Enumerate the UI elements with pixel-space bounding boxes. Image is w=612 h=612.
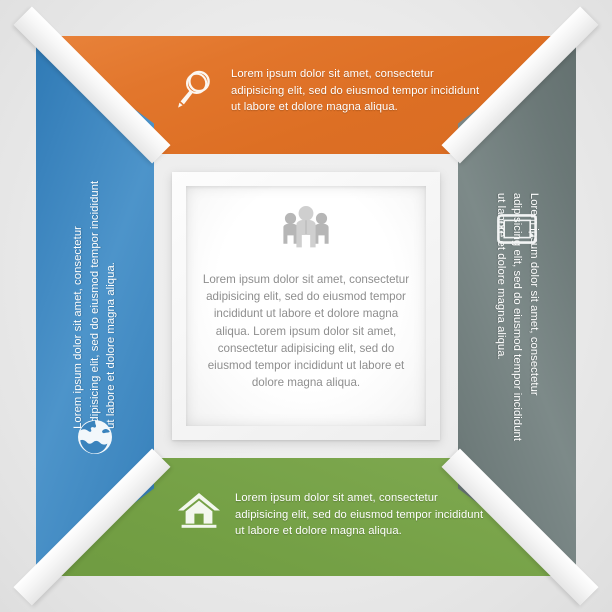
center-card[interactable]: Lorem ipsum dolor sit amet, consectetur … bbox=[172, 172, 440, 440]
panel-bottom-content: Lorem ipsum dolor sit amet, consectetur … bbox=[177, 490, 487, 540]
panel-right-content: Lorem ipsum dolor sit amet, consectetur … bbox=[458, 36, 576, 576]
panel-left-text: Lorem ipsum dolor sit amet, consectetur … bbox=[70, 177, 120, 429]
panel-left-rotated-text: Lorem ipsum dolor sit amet, consectetur … bbox=[70, 177, 120, 429]
infographic-frame: Lorem ipsum dolor sit amet, consectetur … bbox=[0, 0, 612, 612]
tablet-icon bbox=[497, 214, 537, 249]
panel-right[interactable]: Lorem ipsum dolor sit amet, consectetur … bbox=[458, 36, 576, 576]
globe-icon bbox=[76, 418, 114, 461]
people-group-icon bbox=[278, 202, 334, 259]
center-card-inner: Lorem ipsum dolor sit amet, consectetur … bbox=[186, 186, 426, 426]
panel-bottom-text: Lorem ipsum dolor sit amet, consectetur … bbox=[235, 490, 487, 540]
panel-top-content: Lorem ipsum dolor sit amet, consectetur … bbox=[175, 66, 483, 116]
magnifier-icon bbox=[175, 68, 215, 115]
center-card-text: Lorem ipsum dolor sit amet, consectetur … bbox=[200, 271, 412, 391]
panel-top-text: Lorem ipsum dolor sit amet, consectetur … bbox=[231, 66, 483, 116]
home-icon bbox=[177, 490, 221, 535]
panel-left-content: Lorem ipsum dolor sit amet, consectetur … bbox=[36, 36, 154, 576]
panel-left[interactable]: Lorem ipsum dolor sit amet, consectetur … bbox=[36, 36, 154, 576]
